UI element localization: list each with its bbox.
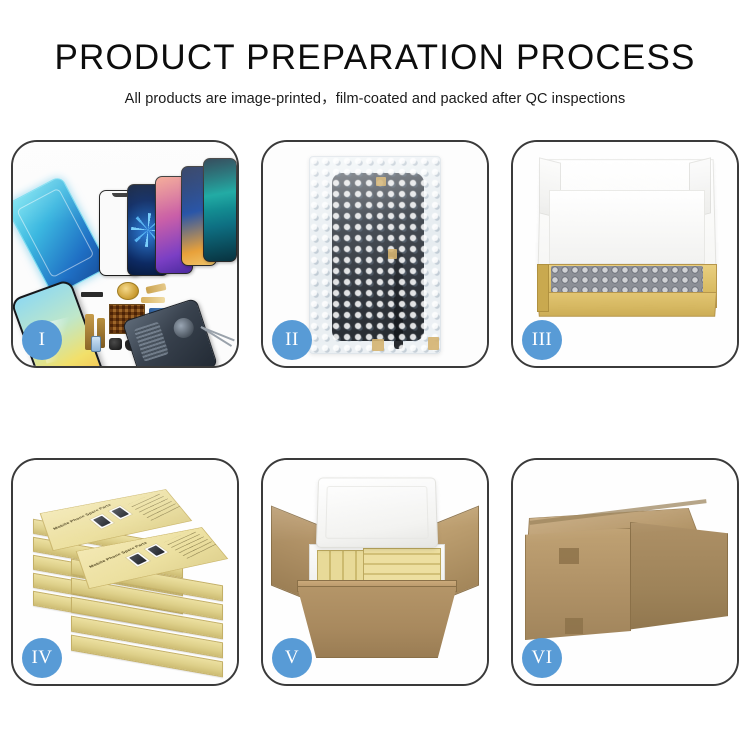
flex-cable-icon xyxy=(145,283,166,294)
bubble-wrap-bag-icon xyxy=(309,156,441,354)
carton-tape-patch-icon xyxy=(559,548,579,564)
phone-teal-icon xyxy=(203,158,237,262)
battery-icon xyxy=(91,336,101,352)
process-step-panel-1: I xyxy=(11,140,239,368)
phone-lineup-group xyxy=(93,154,235,276)
page-title: PRODUCT PREPARATION PROCESS xyxy=(0,36,750,80)
process-step-panel-6: VI xyxy=(511,458,739,686)
process-step-panel-3: III xyxy=(511,140,739,368)
box-product-thumb xyxy=(107,505,133,520)
foam-lid-icon xyxy=(316,477,438,547)
tweezers-icon xyxy=(201,318,237,354)
process-step-panel-5: V xyxy=(261,458,489,686)
process-step-panel-4: Mobile Phone Spare Parts Mobile Phone Sp… xyxy=(11,458,239,686)
step-badge-6: VI xyxy=(522,638,562,678)
box-spec-lines xyxy=(164,530,216,559)
box-product-thumb xyxy=(89,513,116,529)
carton-tape-patch-icon xyxy=(565,618,583,634)
step-badge-3: III xyxy=(522,320,562,360)
step-badge-4: IV xyxy=(22,638,62,678)
bubble-texture-front xyxy=(310,157,440,353)
page-subtitle: All products are image-printed，film-coat… xyxy=(0,87,750,108)
camera-module-icon xyxy=(109,338,122,350)
foam-sheet-icon xyxy=(549,190,705,264)
tape-piece-icon xyxy=(376,177,386,186)
product-preparation-process-page: PRODUCT PREPARATION PROCESS All products… xyxy=(0,0,750,750)
process-steps-grid: I II xyxy=(11,140,739,686)
kraft-box-front-icon xyxy=(537,292,717,317)
tape-piece-icon xyxy=(372,339,384,351)
vibration-motor-icon xyxy=(117,282,139,300)
carton-body-icon xyxy=(297,586,457,658)
box-spec-lines xyxy=(128,492,180,521)
step-badge-5: V xyxy=(272,638,312,678)
process-step-panel-2: II xyxy=(261,140,489,368)
box-product-thumb xyxy=(143,543,169,558)
step-badge-2: II xyxy=(272,320,312,360)
flex-cable-icon xyxy=(141,297,165,303)
earpiece-strip-icon xyxy=(81,292,103,297)
box-stack-group: Mobile Phone Spare Parts Mobile Phone Sp… xyxy=(27,476,229,672)
step-badge-1: I xyxy=(22,320,62,360)
page-header: PRODUCT PREPARATION PROCESS All products… xyxy=(0,0,750,108)
carton-right-face-icon xyxy=(630,522,728,634)
box-product-thumb xyxy=(125,551,152,567)
kraft-box-side-icon xyxy=(537,264,549,312)
tape-piece-icon xyxy=(428,337,439,350)
tape-piece-icon xyxy=(388,249,397,259)
